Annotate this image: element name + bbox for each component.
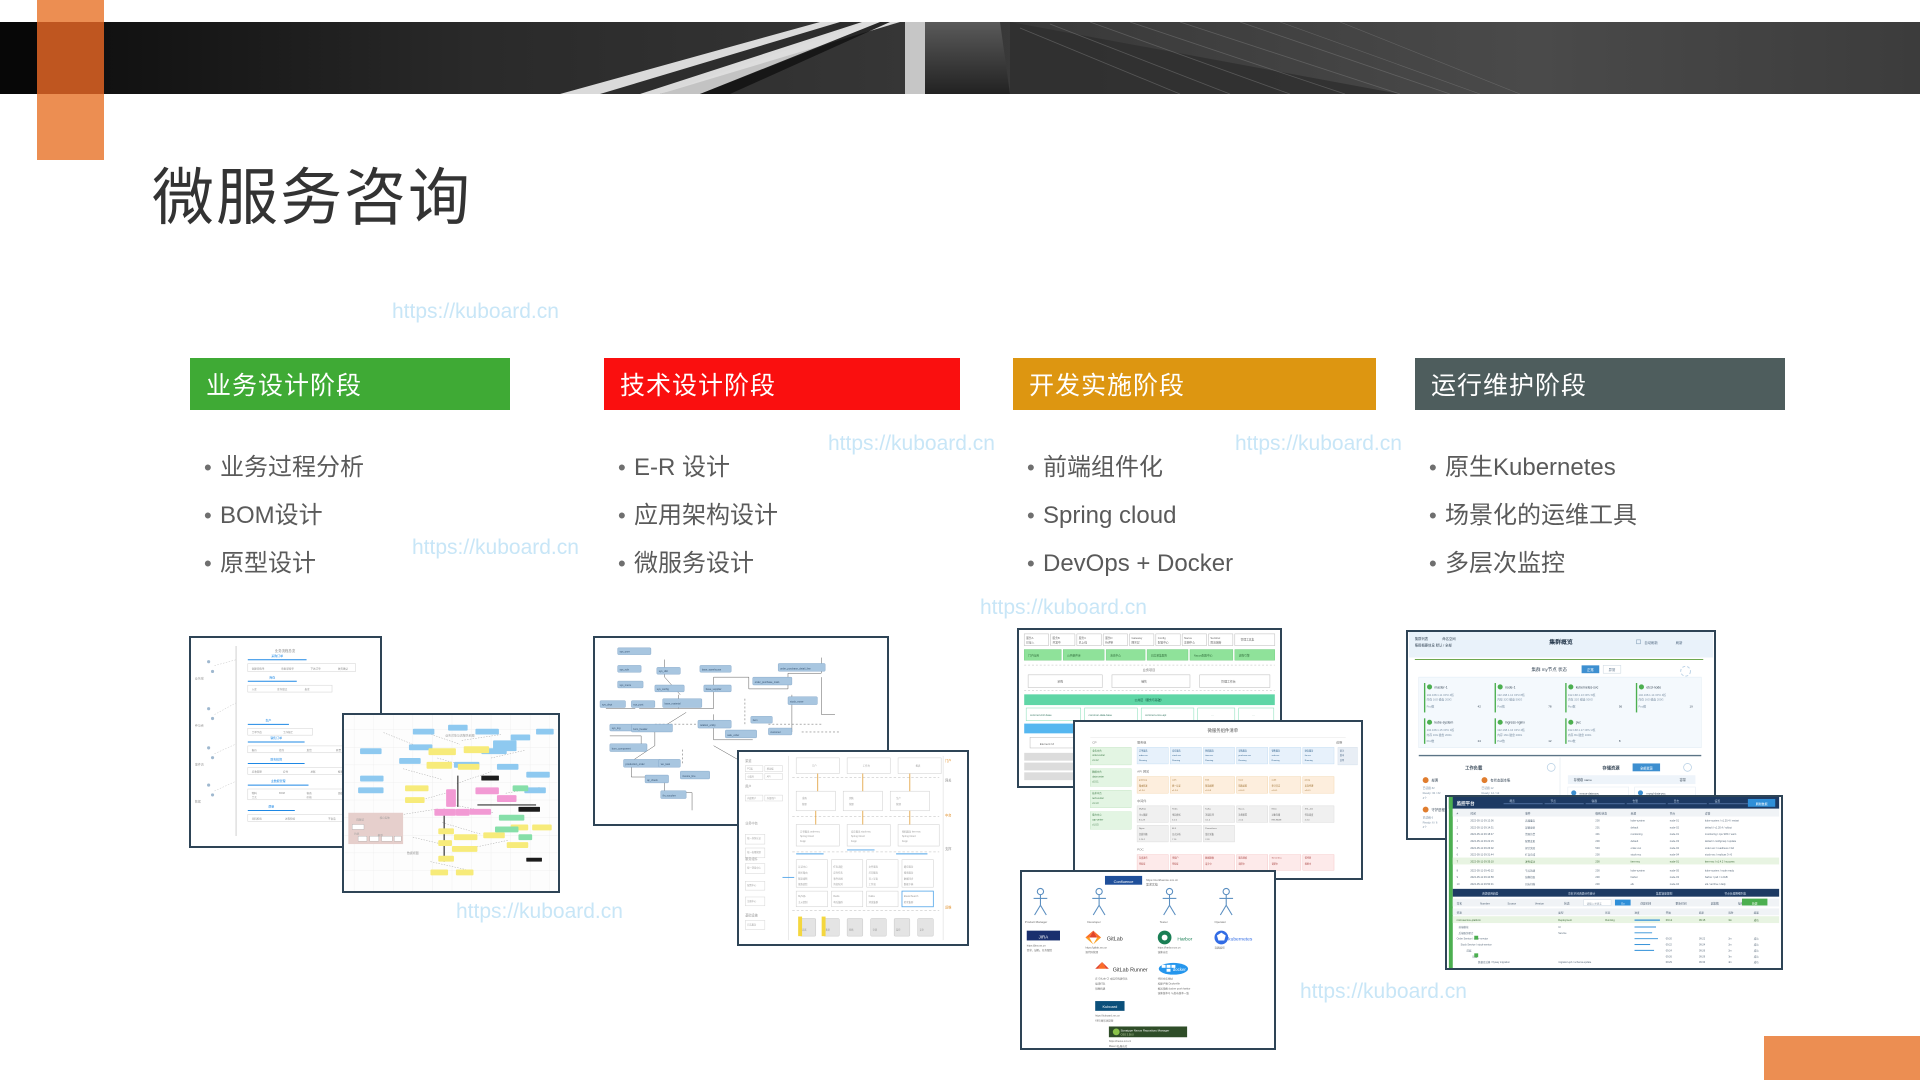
column-operations: 运行维护阶段 • 原生Kubernetes • 场景化的运维工具 • 多层次监控 — [1415, 358, 1785, 596]
bullet-dot-icon: • — [1013, 548, 1043, 580]
svg-text:base_supplier: base_supplier — [706, 688, 722, 691]
svg-text:节点负载明细列表: 节点负载明细列表 — [1724, 892, 1746, 896]
devops-toolchain-graphic: Confluence https://confluence.xxx.cn 需求文… — [1022, 872, 1274, 1048]
svg-text:服务组件: 服务组件 — [745, 856, 758, 861]
bullet-dot-icon: • — [604, 452, 634, 484]
svg-text:后端服务聚合: 后端服务聚合 — [1459, 931, 1474, 935]
svg-text:Kafka: Kafka — [869, 896, 876, 898]
thumbnail-business-mindmap[interactable]: 问题域核心实体 约束规则 业务对象与流程关系图 数据视图 — [342, 713, 560, 893]
svg-text:成功: 成功 — [1754, 918, 1760, 922]
list-item: • 场景化的运维工具 — [1415, 500, 1785, 534]
bullet-label: 微服务设计 — [634, 548, 754, 580]
svg-text:migration-job / schema-update: migration-job / schema-update — [1558, 961, 1592, 964]
svg-text:数据库迁移 / flyway migration: 数据库迁移 / flyway migration — [1478, 960, 1510, 964]
svg-text:tech-center: tech-center — [1092, 797, 1104, 800]
svg-text:Running: Running — [1605, 919, 1615, 922]
watermark: https://kuboard.cn — [980, 596, 1147, 620]
svg-text:09:22: 09:22 — [1666, 944, 1673, 947]
svg-text:kube-system: kube-system — [1631, 819, 1645, 822]
list-item: • 前端组件化 — [1013, 452, 1376, 486]
svg-text:约束: 约束 — [354, 831, 360, 835]
svg-text:Deployment: Deployment — [1558, 919, 1572, 922]
svg-text:命名空间资源分布统计: 命名空间资源分布统计 — [1568, 892, 1595, 896]
svg-text:发布成功: 发布成功 — [1525, 859, 1536, 863]
column-header-business-design[interactable]: 业务设计阶段 — [190, 358, 510, 410]
svg-text:内存 32G 磁盘 500G: 内存 32G 磁盘 500G — [1497, 698, 1522, 702]
svg-text:kube-system / node ready: kube-system / node ready — [1705, 869, 1735, 872]
page-title: 微服务咨询 — [152, 168, 472, 230]
svg-text:2022-05-11 09:35:10: 2022-05-11 09:35:10 — [1470, 860, 1494, 863]
svg-text:刷新数据: 刷新数据 — [1756, 801, 1768, 806]
svg-text:Feign: Feign — [800, 841, 807, 843]
svg-text:开始: 开始 — [1666, 910, 1672, 914]
svg-text:成功: 成功 — [1754, 948, 1759, 952]
svg-text:核心实体: 核心实体 — [380, 816, 391, 820]
svg-text:服务C: 服务C — [1079, 636, 1086, 640]
svg-text:运维: 运维 — [945, 905, 951, 910]
svg-text:item: item — [753, 719, 758, 722]
svg-text:副本数: 副本数 — [1711, 901, 1719, 905]
svg-text:kubernetes: kubernetes — [1228, 936, 1253, 942]
thumbnail-monitoring-table[interactable]: 监控平台 概览节点容器 告警日志设置 刷新数据 #时间事件 级别/状态来源 节点… — [1445, 795, 1783, 970]
bullet-label: 前端组件化 — [1043, 452, 1163, 484]
svg-text:待评审: 待评审 — [1105, 641, 1113, 645]
svg-text:MySQL: MySQL — [1139, 809, 1147, 811]
svg-text:base_warehouse: base_warehouse — [702, 668, 722, 671]
svg-text:发货: 发货 — [307, 748, 313, 752]
svg-text:业务域: 业务域 — [195, 675, 204, 680]
svg-text:参与者: 参与者 — [195, 722, 204, 727]
svg-text:192.168.1.17 CPU 2核: 192.168.1.17 CPU 2核 — [1568, 728, 1596, 732]
svg-text:v1.4.2: v1.4.2 — [1092, 760, 1099, 762]
watermark: https://kuboard.cn — [392, 300, 559, 324]
svg-text:Ready: 6 / 6: Ready: 6 / 6 — [1423, 820, 1438, 824]
svg-text:Kuboard: Kuboard — [1102, 1004, 1117, 1009]
svg-text:09:33: 09:33 — [1699, 961, 1706, 964]
svg-text:09:22: 09:22 — [1699, 938, 1706, 941]
svg-text:default / configmap / update: default / configmap / update — [1705, 840, 1737, 843]
svg-text:服务组: 服务组 — [1137, 739, 1146, 744]
svg-text:集群列表: 集群列表 — [1415, 636, 1429, 641]
svg-text:09:29: 09:29 — [1699, 955, 1706, 958]
svg-text:GitLab Runner: GitLab Runner — [1113, 968, 1148, 974]
list-item: • 原生Kubernetes — [1415, 452, 1785, 486]
svg-text:命名空间: 命名空间 — [1442, 636, 1456, 641]
svg-text:purchase-svc: purchase-svc — [1238, 754, 1251, 757]
svg-text:刷新: 刷新 — [1676, 640, 1683, 645]
bullet-label: Spring cloud — [1043, 500, 1176, 532]
svg-text:容量: 容量 — [1680, 777, 1686, 782]
svg-text:级别/状态: 级别/状态 — [1595, 812, 1607, 816]
svg-text:kubernetes-svc: kubernetes-svc — [1576, 685, 1599, 689]
monitoring-table-graphic: 监控平台 概览节点容器 告警日志设置 刷新数据 #时间事件 级别/状态来源 节点… — [1447, 797, 1781, 968]
svg-text:78: 78 — [1548, 705, 1552, 709]
svg-text:default: default — [1631, 826, 1639, 829]
svg-text:sale_order: sale_order — [727, 734, 739, 737]
svg-text:已就绪 6: 已就绪 6 — [1423, 815, 1434, 819]
svg-text:Minio: Minio — [1272, 809, 1278, 811]
accent-bar-top-left — [37, 0, 104, 160]
svg-text:公共层（服务与基础）: 公共层（服务与基础） — [1134, 697, 1163, 702]
svg-text:工艺: 工艺 — [252, 795, 258, 799]
svg-text:200: 200 — [1595, 860, 1600, 863]
svg-text:业务项目: 业务项目 — [1143, 667, 1155, 672]
svg-text:sys_dict: sys_dict — [659, 670, 668, 673]
svg-text:harbor / pull / 1.2GB: harbor / pull / 1.2GB — [1705, 876, 1728, 879]
svg-text:2.3.0: 2.3.0 — [1305, 819, 1311, 821]
list-item: • 原型设计 — [190, 548, 510, 582]
bullet-dot-icon: • — [604, 500, 634, 532]
svg-text:内存 32G 磁盘 500G: 内存 32G 磁盘 500G — [1568, 698, 1593, 702]
svg-text:Maven 私服仓库: Maven 私服仓库 — [1109, 1044, 1128, 1048]
svg-text:耗时: 耗时 — [1728, 910, 1734, 914]
list-item: • 业务过程分析 — [190, 452, 510, 486]
svg-text:说明: 说明 — [1336, 739, 1342, 744]
svg-text:cap-center: cap-center — [1092, 818, 1103, 821]
svg-text:RELEASE: RELEASE — [1272, 818, 1282, 821]
svg-text:stock_move: stock_move — [790, 701, 804, 704]
list-item: • 多层次监控 — [1415, 548, 1785, 582]
svg-text:Serverless: Serverless — [1272, 857, 1282, 860]
svg-text:default / v1.20.4 / rollout: default / v1.20.4 / rollout — [1705, 826, 1732, 829]
svg-text:POC: POC — [1137, 848, 1144, 852]
svg-text:创建时间: 创建时间 — [1640, 901, 1651, 905]
svg-text:Spring Cloud: Spring Cloud — [902, 836, 916, 838]
svg-text:Redis: Redis — [1172, 809, 1177, 811]
svg-text:详情: 详情 — [1705, 812, 1711, 816]
bullet-dot-icon: • — [1415, 548, 1445, 580]
svg-text:服务A: 服务A — [1026, 636, 1033, 640]
svg-text:管理工作台: 管理工作台 — [1221, 679, 1236, 684]
svg-text:限流熔断: 限流熔断 — [1210, 641, 1221, 645]
svg-text:BOM: BOM — [279, 792, 285, 795]
svg-text:进度: 进度 — [1635, 910, 1641, 914]
svg-text:bom_component: bom_component — [612, 748, 631, 751]
bullet-list-development: • 前端组件化 • Spring cloud • DevOps + Docker — [1013, 452, 1376, 582]
svg-text:XXL-Job: XXL-Job — [1305, 809, 1314, 811]
svg-text:Sentinel: Sentinel — [1210, 636, 1220, 640]
svg-text:2m: 2m — [1728, 944, 1731, 947]
svg-text:已就绪 32: 已就绪 32 — [1423, 786, 1435, 790]
svg-text:12: 12 — [1548, 739, 1552, 743]
svg-text:Kafka: Kafka — [1205, 809, 1211, 811]
svg-text:invoice_line: invoice_line — [682, 775, 696, 778]
svg-text:limit: limit — [1205, 779, 1209, 782]
svg-text:日志采集服务: 日志采集服务 — [1151, 653, 1168, 657]
svg-text:注册中心: 注册中心 — [1184, 641, 1195, 645]
svg-text:Running: Running — [1139, 760, 1148, 762]
column-header-technical-design[interactable]: 技术设计阶段 — [604, 358, 960, 410]
svg-text:探针失败: 探针失败 — [1525, 846, 1536, 850]
svg-text:1.20.2: 1.20.2 — [1139, 839, 1146, 841]
svg-text:基础设施: 基础设施 — [745, 913, 758, 918]
svg-text:customer: customer — [770, 731, 781, 734]
svg-text:common-data-base: common-data-base — [1089, 713, 1113, 717]
svg-text:v1.2.0: v1.2.0 — [1139, 790, 1146, 792]
svg-text:Nacos配置中心: Nacos配置中心 — [1194, 653, 1213, 657]
svg-text:Source: Source — [1507, 901, 1516, 905]
svg-text:渠道: 渠道 — [745, 758, 751, 763]
svg-text:配置变更: 配置变更 — [1525, 839, 1536, 843]
svg-text:代码仓库地址: 代码仓库地址 — [1158, 977, 1174, 981]
svg-text:base_material: base_material — [665, 703, 681, 706]
svg-text:请输入关键字: 请输入关键字 — [1587, 901, 1603, 905]
svg-text:总账: 总账 — [310, 769, 316, 773]
svg-text:docker: docker — [1173, 967, 1187, 972]
svg-text:来源: 来源 — [1631, 812, 1637, 816]
svg-text:order_purchase_detail_line: order_purchase_detail_line — [780, 667, 811, 670]
svg-text:消息中心: 消息中心 — [1110, 653, 1121, 657]
svg-text:成功: 成功 — [1754, 937, 1759, 941]
svg-text:镜像拉取: 镜像拉取 — [1525, 875, 1536, 879]
column-header-label: 运行维护阶段 — [1431, 366, 1587, 402]
thumbnail-microservice-card-list[interactable]: 微服务组件清单 CP 说明 业务中台order-centerv1.4.2 数据中… — [1073, 720, 1363, 880]
bullet-label: 场景化的运维工具 — [1445, 500, 1637, 532]
svg-text:构建产物 Dockerfile: 构建产物 Dockerfile — [1158, 981, 1181, 985]
svg-text:kube-system / v1.20.4 / restar: kube-system / v1.20.4 / restart — [1705, 819, 1739, 822]
svg-text:node-04: node-04 — [1670, 883, 1680, 886]
svg-text:Running: Running — [1205, 760, 1214, 762]
svg-text:sys_user: sys_user — [620, 651, 630, 654]
svg-text:价格: 价格 — [307, 795, 313, 799]
svg-text:质量: 质量 — [268, 804, 274, 809]
svg-text:报价: 报价 — [252, 748, 258, 752]
svg-text:item-svc: item-svc — [1631, 860, 1641, 863]
svg-text:microservice-platform: microservice-platform — [1457, 919, 1481, 922]
column-header-operations[interactable]: 运行维护阶段 — [1415, 358, 1785, 410]
svg-text:v1.0.5: v1.0.5 — [1092, 824, 1099, 826]
svg-text:2022-05-11 09:31:44: 2022-05-11 09:31:44 — [1470, 854, 1494, 857]
bullet-label: BOM设计 — [220, 500, 323, 532]
bullet-dot-icon: • — [1013, 500, 1043, 532]
svg-text:入库: 入库 — [252, 687, 258, 691]
svg-text:2m: 2m — [1728, 938, 1731, 941]
svg-text:09:26: 09:26 — [1666, 955, 1673, 958]
svg-text:收货确认: 收货确认 — [338, 667, 349, 671]
svg-text:API 网关: API 网关 — [1137, 769, 1149, 774]
svg-text:...: ... — [1211, 714, 1214, 717]
svg-text:成功: 成功 — [1754, 960, 1759, 964]
svg-text:数据视图: 数据视图 — [407, 850, 419, 855]
svg-text:42: 42 — [1478, 705, 1482, 709]
svg-text:common-core-api: common-core-api — [1145, 713, 1167, 717]
svg-text:200: 200 — [1595, 819, 1600, 822]
watermark: https://kuboard.cn — [1300, 980, 1467, 1004]
svg-text:v1.0.3: v1.0.3 — [1238, 790, 1245, 792]
svg-text:流程引擎: 流程引擎 — [1239, 653, 1250, 657]
svg-text:容器编排: 容器编排 — [1214, 945, 1225, 949]
svg-text:trace: trace — [1238, 779, 1244, 782]
svg-text:库存: 库存 — [269, 674, 275, 679]
svg-text:门户应用: 门户应用 — [1028, 653, 1039, 657]
svg-text:库存盘点: 库存盘点 — [277, 687, 288, 691]
svg-text:v1.0.1: v1.0.1 — [1272, 790, 1279, 792]
svg-text:pvc: pvc — [1576, 721, 1582, 725]
svg-text:工单下达: 工单下达 — [252, 730, 263, 734]
svg-text:production_order: production_order — [625, 763, 644, 766]
svg-text:客商: 客商 — [307, 791, 313, 795]
svg-text:2022-05-11 09:50:31: 2022-05-11 09:50:31 — [1470, 883, 1494, 886]
svg-text:192.168.1.14 CPU 4核: 192.168.1.14 CPU 4核 — [1638, 693, 1666, 697]
svg-text:Nacos: Nacos — [1238, 809, 1244, 811]
svg-text:2022-05-11 09:40:22: 2022-05-11 09:40:22 — [1470, 869, 1494, 872]
svg-text:sys_dept: sys_dept — [602, 704, 612, 707]
svg-text:内存 8G 磁盘 100G: 内存 8G 磁盘 100G — [1568, 733, 1592, 737]
svg-text:qc_check: qc_check — [647, 779, 658, 782]
list-item: • BOM设计 — [190, 500, 510, 534]
svg-text:Spring Cloud: Spring Cloud — [800, 836, 814, 838]
svg-text:日志: 日志 — [1674, 799, 1680, 803]
svg-text:签约: 签约 — [279, 748, 285, 752]
header-photo-band — [0, 22, 1920, 94]
svg-text:2022-05-11 09:18:47: 2022-05-11 09:18:47 — [1470, 833, 1494, 836]
svg-text:3m: 3m — [1728, 919, 1732, 922]
svg-text:Feign: Feign — [902, 841, 909, 843]
bullet-list-business-design: • 业务过程分析 • BOM设计 • 原型设计 — [190, 452, 510, 582]
svg-text:wo_task: wo_task — [661, 763, 671, 766]
svg-text:开票: 开票 — [336, 748, 342, 752]
svg-text:stock-svc: stock-svc — [1631, 854, 1642, 857]
svg-text:4m: 4m — [1728, 961, 1731, 964]
svg-text:order-svc: order-svc — [1139, 754, 1148, 757]
column-development: 开发实施阶段 • 前端组件化 • Spring cloud • DevOps +… — [1013, 358, 1376, 596]
svg-text:下达订单: 下达订单 — [310, 667, 321, 671]
svg-text:8.0.28: 8.0.28 — [1139, 819, 1146, 821]
svg-text:Pod数: Pod数 — [1427, 705, 1435, 709]
svg-text:item-svc: item-svc — [1205, 754, 1213, 757]
svg-text:Version: Version — [1535, 901, 1545, 905]
svg-text:56: 56 — [1619, 705, 1623, 709]
column-business-design: 业务设计阶段 • 业务过程分析 • BOM设计 • 原型设计 — [190, 358, 510, 596]
svg-text:master-1: master-1 — [1434, 685, 1447, 689]
svg-text:镜像构建: 镜像构建 — [1095, 986, 1106, 990]
svg-text:etcd-node: etcd-node — [1646, 685, 1661, 689]
svg-text:kube-system: kube-system — [1631, 869, 1645, 872]
svg-text:stock-svc: stock-svc — [1172, 754, 1181, 757]
column-header-label: 技术设计阶段 — [620, 366, 776, 402]
svg-text:在 GitLab CI 中运行构建任务: 在 GitLab CI 中运行构建任务 — [1095, 977, 1128, 981]
svg-text:集群概要信息 默认 / 全部: 集群概要信息 默认 / 全部 — [1415, 643, 1453, 648]
svg-text:状态: 状态 — [1605, 910, 1611, 914]
svg-text:09:15: 09:15 — [1699, 919, 1706, 922]
svg-text:6.2.6: 6.2.6 — [1172, 819, 1178, 821]
svg-text:监控平台: 监控平台 — [1457, 800, 1475, 807]
svg-text:4个: 4个 — [1423, 825, 1428, 829]
svg-text:内存 16G 磁盘 200G: 内存 16G 磁盘 200G — [1638, 698, 1663, 702]
svg-text:服务D: 服务D — [1105, 636, 1112, 640]
svg-text:销售: 销售 — [1141, 679, 1147, 684]
svg-text:资源: 资源 — [1457, 910, 1463, 914]
svg-text:源代码管理: 源代码管理 — [1085, 950, 1098, 954]
svg-text:微服务组件清单: 微服务组件清单 — [1208, 727, 1239, 734]
svg-text:Gateway: Gateway — [1131, 636, 1142, 640]
svg-text:审批采购单: 审批采购单 — [281, 667, 294, 671]
svg-text:Pod数: Pod数 — [1497, 739, 1505, 743]
svg-text:应收管理: 应收管理 — [252, 769, 263, 773]
svg-text:19: 19 — [1690, 705, 1694, 709]
svg-text:命名: 命名 — [1457, 901, 1463, 905]
svg-text:v1.1.0: v1.1.0 — [1092, 803, 1099, 805]
svg-text:order-svc / readiness / fail: order-svc / readiness / fail — [1705, 847, 1734, 850]
svg-text:资源告警: 资源告警 — [1525, 832, 1536, 836]
svg-text:前端: 前端 — [1466, 948, 1471, 952]
svg-text:业务对象与流程关系图: 业务对象与流程关系图 — [445, 733, 474, 738]
svg-text:https://kuboard.xxx.cn: https://kuboard.xxx.cn — [1095, 1015, 1120, 1018]
svg-text:Number: Number — [1480, 901, 1490, 905]
svg-text:sys_post: sys_post — [633, 704, 643, 707]
column-header-label: 开发实施阶段 — [1029, 366, 1185, 402]
svg-text:09:29: 09:29 — [1666, 961, 1673, 964]
svg-text:Nacos: Nacos — [1184, 636, 1192, 640]
svg-text:设置: 设置 — [1715, 799, 1721, 803]
svg-text:创建采购单: 创建采购单 — [252, 667, 265, 671]
bullet-list-operations: • 原生Kubernetes • 场景化的运维工具 • 多层次监控 — [1415, 452, 1785, 582]
svg-text:CP: CP — [1092, 740, 1096, 744]
svg-text:工序报工: 工序报工 — [283, 730, 294, 734]
svg-text:成功: 成功 — [1754, 954, 1759, 958]
svg-text:order_purchase_main: order_purchase_main — [755, 681, 780, 684]
svg-text:elk / archive / daily: elk / archive / daily — [1705, 883, 1727, 886]
svg-text:部署更新: 部署更新 — [1525, 825, 1536, 829]
thumbnail-application-architecture[interactable]: 渠道用户 业务中台服务组件 基础设施 门户 网关 中台 支撑 运维 PC端移动端… — [737, 750, 969, 946]
svg-text:Product Manager: Product Manager — [1025, 920, 1047, 924]
svg-text:24: 24 — [1478, 739, 1482, 743]
svg-text:中间件: 中间件 — [1137, 798, 1146, 803]
svg-text:Feign: Feign — [851, 841, 858, 843]
svg-text:中台: 中台 — [945, 813, 951, 818]
svg-text:Running: Running — [1305, 760, 1314, 762]
svg-text:harbor: harbor — [1631, 876, 1638, 879]
column-header-development[interactable]: 开发实施阶段 — [1013, 358, 1376, 410]
bullet-list-technical-design: • E-R 设计 • 应用架构设计 • 微服务设计 — [604, 452, 960, 582]
list-item: • 应用架构设计 — [604, 500, 960, 534]
svg-text:gateway: gateway — [1139, 779, 1148, 782]
svg-text:200: 200 — [1595, 840, 1600, 843]
svg-text:服务B: 服务B — [1052, 636, 1059, 640]
svg-text:有状态副本集: 有状态副本集 — [1490, 778, 1511, 783]
bullet-label: DevOps + Docker — [1043, 548, 1233, 580]
svg-text:UI: UI — [1558, 926, 1561, 929]
svg-text:kube-system: kube-system — [1434, 721, 1453, 725]
svg-text:200: 200 — [1595, 854, 1600, 857]
card-list-graphic: 微服务组件清单 CP 说明 业务中台order-centerv1.4.2 数据中… — [1075, 722, 1361, 878]
svg-text:已就绪 12: 已就绪 12 — [1482, 786, 1494, 790]
svg-text:default: default — [1631, 840, 1639, 843]
svg-text:sys_log: sys_log — [612, 727, 621, 730]
svg-text:集群容量规划: 集群容量规划 — [1656, 892, 1673, 896]
svg-text:配置中心: 配置中心 — [1158, 641, 1169, 645]
svg-text:Pod数: Pod数 — [1568, 705, 1576, 709]
svg-text:ingress-nginx: ingress-nginx — [1505, 721, 1525, 725]
svg-text:内存 16G 磁盘 200G: 内存 16G 磁盘 200G — [1497, 733, 1522, 737]
svg-text:结束: 结束 — [1699, 910, 1705, 914]
watermark: https://kuboard.cn — [456, 900, 623, 924]
svg-text:管理工具集: 管理工具集 — [1241, 638, 1255, 642]
svg-text:MySQL: MySQL — [798, 896, 807, 898]
svg-text:Sonatype Nexus Repository Mana: Sonatype Nexus Repository Manager — [1121, 1028, 1170, 1032]
svg-text:Harbor: Harbor — [1177, 936, 1192, 942]
svg-text:192.168.1.16 CPU 4核: 192.168.1.16 CPU 4核 — [1497, 728, 1525, 732]
svg-text:需求文档: 需求文档 — [1146, 882, 1158, 887]
svg-text:Ready: 32 / 32: Ready: 32 / 32 — [1423, 791, 1441, 795]
svg-text:node-02: node-02 — [1670, 847, 1680, 850]
thumbnail-devops-toolchain[interactable]: Confluence https://confluence.xxx.cn 需求文… — [1020, 870, 1276, 1050]
svg-text:Pod数: Pod数 — [1638, 705, 1646, 709]
svg-text:Config: Config — [1158, 636, 1166, 640]
svg-text:资源使用趋势: 资源使用趋势 — [1482, 892, 1499, 896]
architecture-photo — [0, 22, 1920, 94]
svg-text:2022-05-11 09:22:15: 2022-05-11 09:22:15 — [1470, 840, 1494, 843]
